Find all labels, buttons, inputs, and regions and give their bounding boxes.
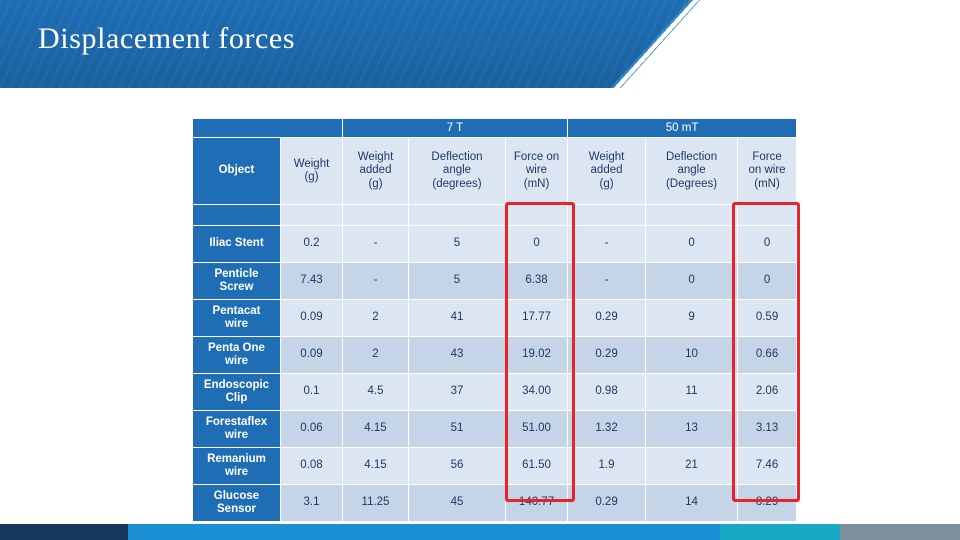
column-header-deflection-7t-line3: (degrees): [432, 178, 481, 190]
cell-force-50mt: 0: [738, 263, 797, 300]
cell-weight-added-7t: -: [343, 263, 409, 300]
cell-weight-added-7t: 4.5: [343, 374, 409, 411]
column-header-deflection-7t-line1: Deflection: [431, 151, 482, 163]
spacer-cell-force-7t: [506, 205, 568, 226]
displacement-forces-table-container: 7 T 50 mT Object Weight (g) Weight added…: [192, 118, 796, 522]
table-column-header-row: Object Weight (g) Weight added (g) Defle…: [193, 138, 797, 205]
cell-weight-added-50mt: -: [568, 226, 646, 263]
displacement-forces-table: 7 T 50 mT Object Weight (g) Weight added…: [192, 118, 797, 522]
cell-object-line1: Forestaflex: [196, 416, 277, 429]
spacer-cell-object: [193, 205, 281, 226]
column-header-deflection-7t-line2: angle: [443, 164, 471, 176]
column-header-weight-added-7t-line1: Weight: [358, 151, 394, 163]
column-header-force-7t-line3: (mN): [524, 178, 550, 190]
cell-object-line1: Glucose: [196, 490, 277, 503]
cell-object: Iliac Stent: [193, 226, 281, 263]
cell-weight-added-7t: 2: [343, 300, 409, 337]
spacer-cell-weight-added-7t: [343, 205, 409, 226]
table-row: Iliac Stent 0.2 - 5 0 - 0 0: [193, 226, 797, 263]
spacer-cell-force-50mt: [738, 205, 797, 226]
cell-weight: 0.09: [281, 337, 343, 374]
column-header-object: Object: [193, 138, 281, 205]
cell-weight-added-50mt: 0.29: [568, 485, 646, 522]
cell-weight: 0.06: [281, 411, 343, 448]
cell-weight-added-50mt: 1.32: [568, 411, 646, 448]
cell-weight-added-50mt: 0.29: [568, 300, 646, 337]
cell-force-7t: 0: [506, 226, 568, 263]
cell-weight-added-50mt: -: [568, 263, 646, 300]
column-header-force-50mt: Force on wire (mN): [738, 138, 797, 205]
column-header-weight-added-7t: Weight added (g): [343, 138, 409, 205]
column-header-deflection-7t: Deflection angle (degrees): [409, 138, 506, 205]
cell-object-line2: wire: [196, 429, 277, 442]
cell-deflection-50mt: 13: [646, 411, 738, 448]
table-row: Endoscopic Clip 0.1 4.5 37 34.00 0.98 11…: [193, 374, 797, 411]
cell-force-50mt: 0.66: [738, 337, 797, 374]
column-header-force-50mt-line3: (mN): [754, 178, 780, 190]
cell-force-7t: 6.38: [506, 263, 568, 300]
cell-deflection-7t: 51: [409, 411, 506, 448]
column-header-weight-added-50mt: Weight added (g): [568, 138, 646, 205]
group-header-7t: 7 T: [343, 119, 568, 138]
cell-deflection-50mt: 11: [646, 374, 738, 411]
column-header-weight-added-50mt-line1: Weight: [589, 151, 625, 163]
cell-deflection-50mt: 9: [646, 300, 738, 337]
cell-deflection-7t: 41: [409, 300, 506, 337]
group-header-blank-1: [193, 119, 281, 138]
cell-deflection-7t: 43: [409, 337, 506, 374]
cell-weight-added-50mt: 1.9: [568, 448, 646, 485]
column-header-weight-line1: Weight: [294, 158, 330, 170]
cell-deflection-7t: 56: [409, 448, 506, 485]
cell-force-50mt: 2.06: [738, 374, 797, 411]
cell-object: Remanium wire: [193, 448, 281, 485]
cell-object: Penta One wire: [193, 337, 281, 374]
table-row: Glucose Sensor 3.1 11.25 45 140.77 0.29 …: [193, 485, 797, 522]
table-row: Pentacat wire 0.09 2 41 17.77 0.29 9 0.5…: [193, 300, 797, 337]
cell-weight: 0.1: [281, 374, 343, 411]
cell-object-line1: Remanium: [196, 453, 277, 466]
column-header-deflection-50mt-line2: angle: [677, 164, 705, 176]
cell-deflection-7t: 37: [409, 374, 506, 411]
cell-weight: 3.1: [281, 485, 343, 522]
cell-weight-added-7t: -: [343, 226, 409, 263]
cell-weight: 7.43: [281, 263, 343, 300]
cell-force-50mt: 0.59: [738, 300, 797, 337]
cell-force-50mt: 7.46: [738, 448, 797, 485]
cell-force-50mt: 8.29: [738, 485, 797, 522]
cell-force-7t: 51.00: [506, 411, 568, 448]
group-header-50mt: 50 mT: [568, 119, 797, 138]
column-header-weight-added-50mt-line3: (g): [600, 178, 614, 190]
cell-deflection-50mt: 14: [646, 485, 738, 522]
cell-force-7t: 61.50: [506, 448, 568, 485]
cell-deflection-50mt: 0: [646, 226, 738, 263]
slide-footer: [0, 524, 960, 540]
table-row: Penticle Screw 7.43 - 5 6.38 - 0 0: [193, 263, 797, 300]
cell-weight-added-50mt: 0.98: [568, 374, 646, 411]
cell-object-line2: wire: [196, 318, 277, 331]
cell-object: Endoscopic Clip: [193, 374, 281, 411]
cell-object-line2: wire: [196, 466, 277, 479]
cell-weight: 0.09: [281, 300, 343, 337]
cell-weight-added-7t: 11.25: [343, 485, 409, 522]
cell-weight-added-7t: 4.15: [343, 448, 409, 485]
cell-force-7t: 19.02: [506, 337, 568, 374]
cell-deflection-50mt: 21: [646, 448, 738, 485]
page-title: Displacement forces: [38, 22, 295, 56]
group-header-blank-2: [281, 119, 343, 138]
cell-object: Forestaflex wire: [193, 411, 281, 448]
cell-object-line2: wire: [196, 355, 277, 368]
cell-object: Glucose Sensor: [193, 485, 281, 522]
spacer-cell-weight: [281, 205, 343, 226]
cell-object-line2: Screw: [196, 281, 277, 294]
cell-force-50mt: 3.13: [738, 411, 797, 448]
spacer-cell-weight-added-50mt: [568, 205, 646, 226]
column-header-weight-added-50mt-line2: added: [591, 164, 623, 176]
cell-object-line1: Penticle: [196, 268, 277, 281]
cell-force-7t: 34.00: [506, 374, 568, 411]
cell-object-line1: Penta One: [196, 342, 277, 355]
cell-weight-added-7t: 2: [343, 337, 409, 374]
cell-force-7t: 17.77: [506, 300, 568, 337]
cell-object-line2: Sensor: [196, 503, 277, 516]
spacer-cell-deflection-7t: [409, 205, 506, 226]
slide-header: Displacement forces: [0, 0, 960, 88]
footer-segment-1: [0, 524, 128, 540]
column-header-weight-added-7t-line3: (g): [368, 178, 382, 190]
cell-weight-added-7t: 4.15: [343, 411, 409, 448]
cell-object-line2: Clip: [196, 392, 277, 405]
spacer-cell-deflection-50mt: [646, 205, 738, 226]
cell-weight: 0.2: [281, 226, 343, 263]
cell-weight: 0.08: [281, 448, 343, 485]
footer-segment-2: [128, 524, 720, 540]
column-header-force-50mt-line2: on wire: [749, 164, 786, 176]
cell-force-7t: 140.77: [506, 485, 568, 522]
cell-object-line1: Endoscopic: [196, 379, 277, 392]
column-header-deflection-50mt-line3: (Degrees): [666, 178, 717, 190]
column-header-weight-added-7t-line2: added: [360, 164, 392, 176]
column-header-object-line1: Object: [219, 164, 255, 176]
column-header-force-7t-line1: Force on: [514, 151, 559, 163]
footer-segment-4: [840, 524, 960, 540]
cell-deflection-50mt: 0: [646, 263, 738, 300]
column-header-force-7t: Force on wire (mN): [506, 138, 568, 205]
table-spacer-row: [193, 205, 797, 226]
table-group-header-row: 7 T 50 mT: [193, 119, 797, 138]
column-header-deflection-50mt: Deflection angle (Degrees): [646, 138, 738, 205]
footer-segment-3: [720, 524, 840, 540]
table-row: Forestaflex wire 0.06 4.15 51 51.00 1.32…: [193, 411, 797, 448]
column-header-force-7t-line2: wire: [526, 164, 547, 176]
table-row: Penta One wire 0.09 2 43 19.02 0.29 10 0…: [193, 337, 797, 374]
column-header-weight-line2: (g): [304, 171, 318, 183]
cell-deflection-7t: 5: [409, 263, 506, 300]
cell-object-line1: Pentacat: [196, 305, 277, 318]
cell-object-line1: Iliac Stent: [196, 237, 277, 250]
cell-deflection-7t: 5: [409, 226, 506, 263]
cell-object: Penticle Screw: [193, 263, 281, 300]
column-header-deflection-50mt-line1: Deflection: [666, 151, 717, 163]
cell-deflection-7t: 45: [409, 485, 506, 522]
column-header-force-50mt-line1: Force: [752, 151, 781, 163]
cell-object: Pentacat wire: [193, 300, 281, 337]
column-header-weight: Weight (g): [281, 138, 343, 205]
table-row: Remanium wire 0.08 4.15 56 61.50 1.9 21 …: [193, 448, 797, 485]
cell-force-50mt: 0: [738, 226, 797, 263]
cell-weight-added-50mt: 0.29: [568, 337, 646, 374]
cell-deflection-50mt: 10: [646, 337, 738, 374]
